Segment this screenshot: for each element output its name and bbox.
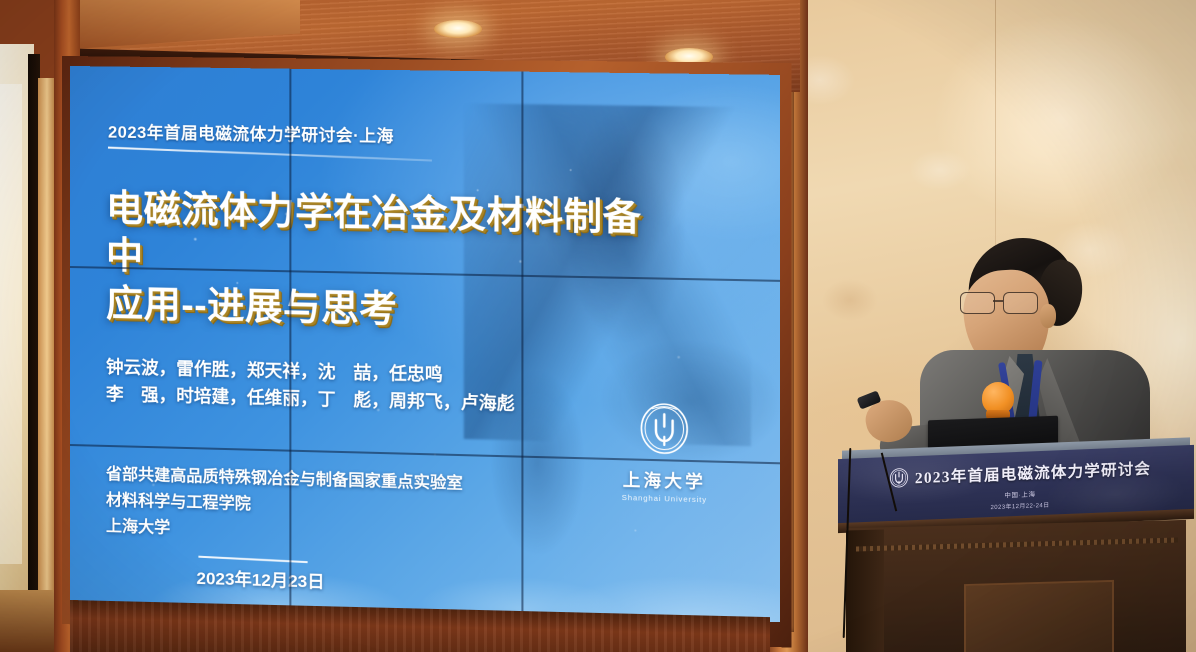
university-name-cn: 上海大学: [610, 465, 718, 493]
door-base: [0, 590, 62, 652]
slide-title-line-2: 应用--进展与思考: [106, 279, 678, 339]
glasses-icon: [960, 292, 1048, 314]
microphone-icon: [982, 382, 1014, 422]
slide-title-line-1: 电磁流体力学在冶金及材料制备中: [106, 185, 678, 291]
presentation-slide: 2023年首届电磁流体力学研讨会·上海 电磁流体力学在冶金及材料制备中 应用--…: [70, 66, 780, 622]
slide-date: 2023年12月23日: [196, 564, 324, 593]
conference-seal-icon: [889, 467, 909, 488]
conference-hall-photo: 2023年首届电磁流体力学研讨会·上海 电磁流体力学在冶金及材料制备中 应用--…: [0, 0, 1196, 652]
shanghai-university-seal-icon: [637, 401, 691, 455]
slide-title: 电磁流体力学在冶金及材料制备中 应用--进展与思考: [106, 185, 678, 340]
podium: 2023年首届电磁流体力学研讨会 中国·上海 2023年12月22-24日: [838, 430, 1196, 652]
slide-kicker: 2023年首届电磁流体力学研讨会·上海: [108, 119, 394, 147]
video-wall-seam-vertical: [521, 72, 523, 614]
podium-banner-title: 2023年首届电磁流体力学研讨会: [915, 457, 1151, 488]
door-glass-highlight: [0, 84, 22, 564]
university-name-en: Shanghai University: [610, 493, 718, 505]
downlight-icon: [434, 20, 482, 38]
video-wall: 2023年首届电磁流体力学研讨会·上海 电磁流体力学在冶金及材料制备中 应用--…: [70, 66, 780, 622]
podium-front-panel: [964, 580, 1114, 652]
video-wall-seam-vertical: [289, 69, 291, 607]
slide-kicker-rule: [108, 147, 432, 162]
